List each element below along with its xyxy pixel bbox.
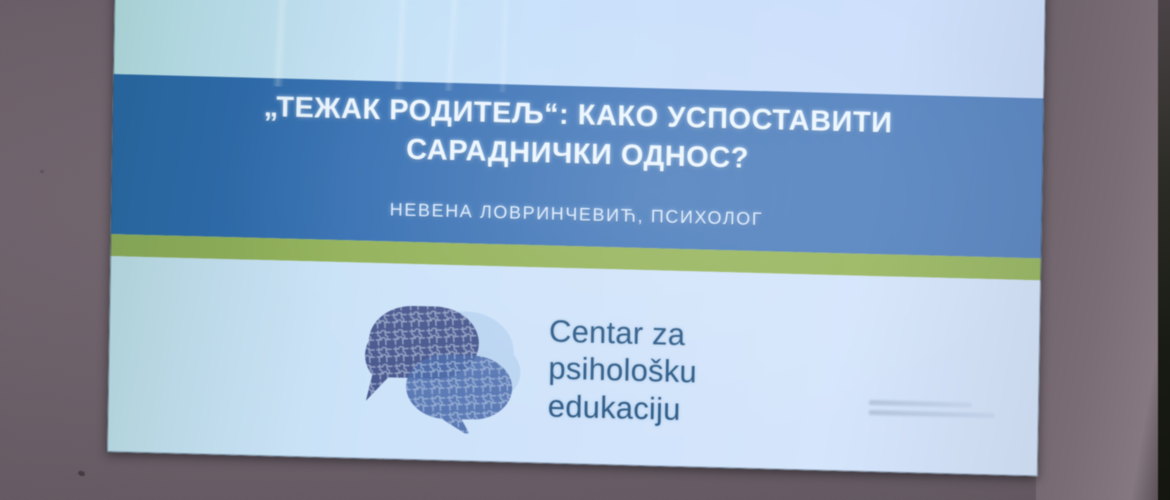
projection-screen: „ТЕЖАК РОДИТЕЉ“: КАКО УСПОСТАВИТИ САРАДН…: [107, 0, 1046, 476]
logo-wordmark-line-3: edukaciju: [548, 387, 697, 428]
presentation-slide: „ТЕЖАК РОДИТЕЉ“: КАКО УСПОСТАВИТИ САРАДН…: [107, 0, 1046, 476]
organization-logo: Centar za psihološku edukaciju: [353, 296, 698, 439]
speech-bubble-mid: [405, 354, 512, 435]
photo-frame: „ТЕЖАК РОДИТЕЉ“: КАКО УСПОСТАВИТИ САРАДН…: [0, 0, 1170, 500]
logo-wordmark-line-2: psihološku: [548, 350, 697, 391]
dark-doorway-gap: [1158, 0, 1170, 500]
wall-speck: [40, 170, 44, 173]
credit-line-2: [869, 410, 995, 418]
slide-credit-note: [869, 400, 995, 423]
logo-wordmark: Centar za psihološku edukaciju: [548, 312, 698, 428]
wall-corner: [1036, 0, 1160, 500]
logo-wordmark-line-1: Centar za: [549, 312, 698, 353]
speech-bubbles-puzzle-logo-icon: [353, 296, 527, 434]
